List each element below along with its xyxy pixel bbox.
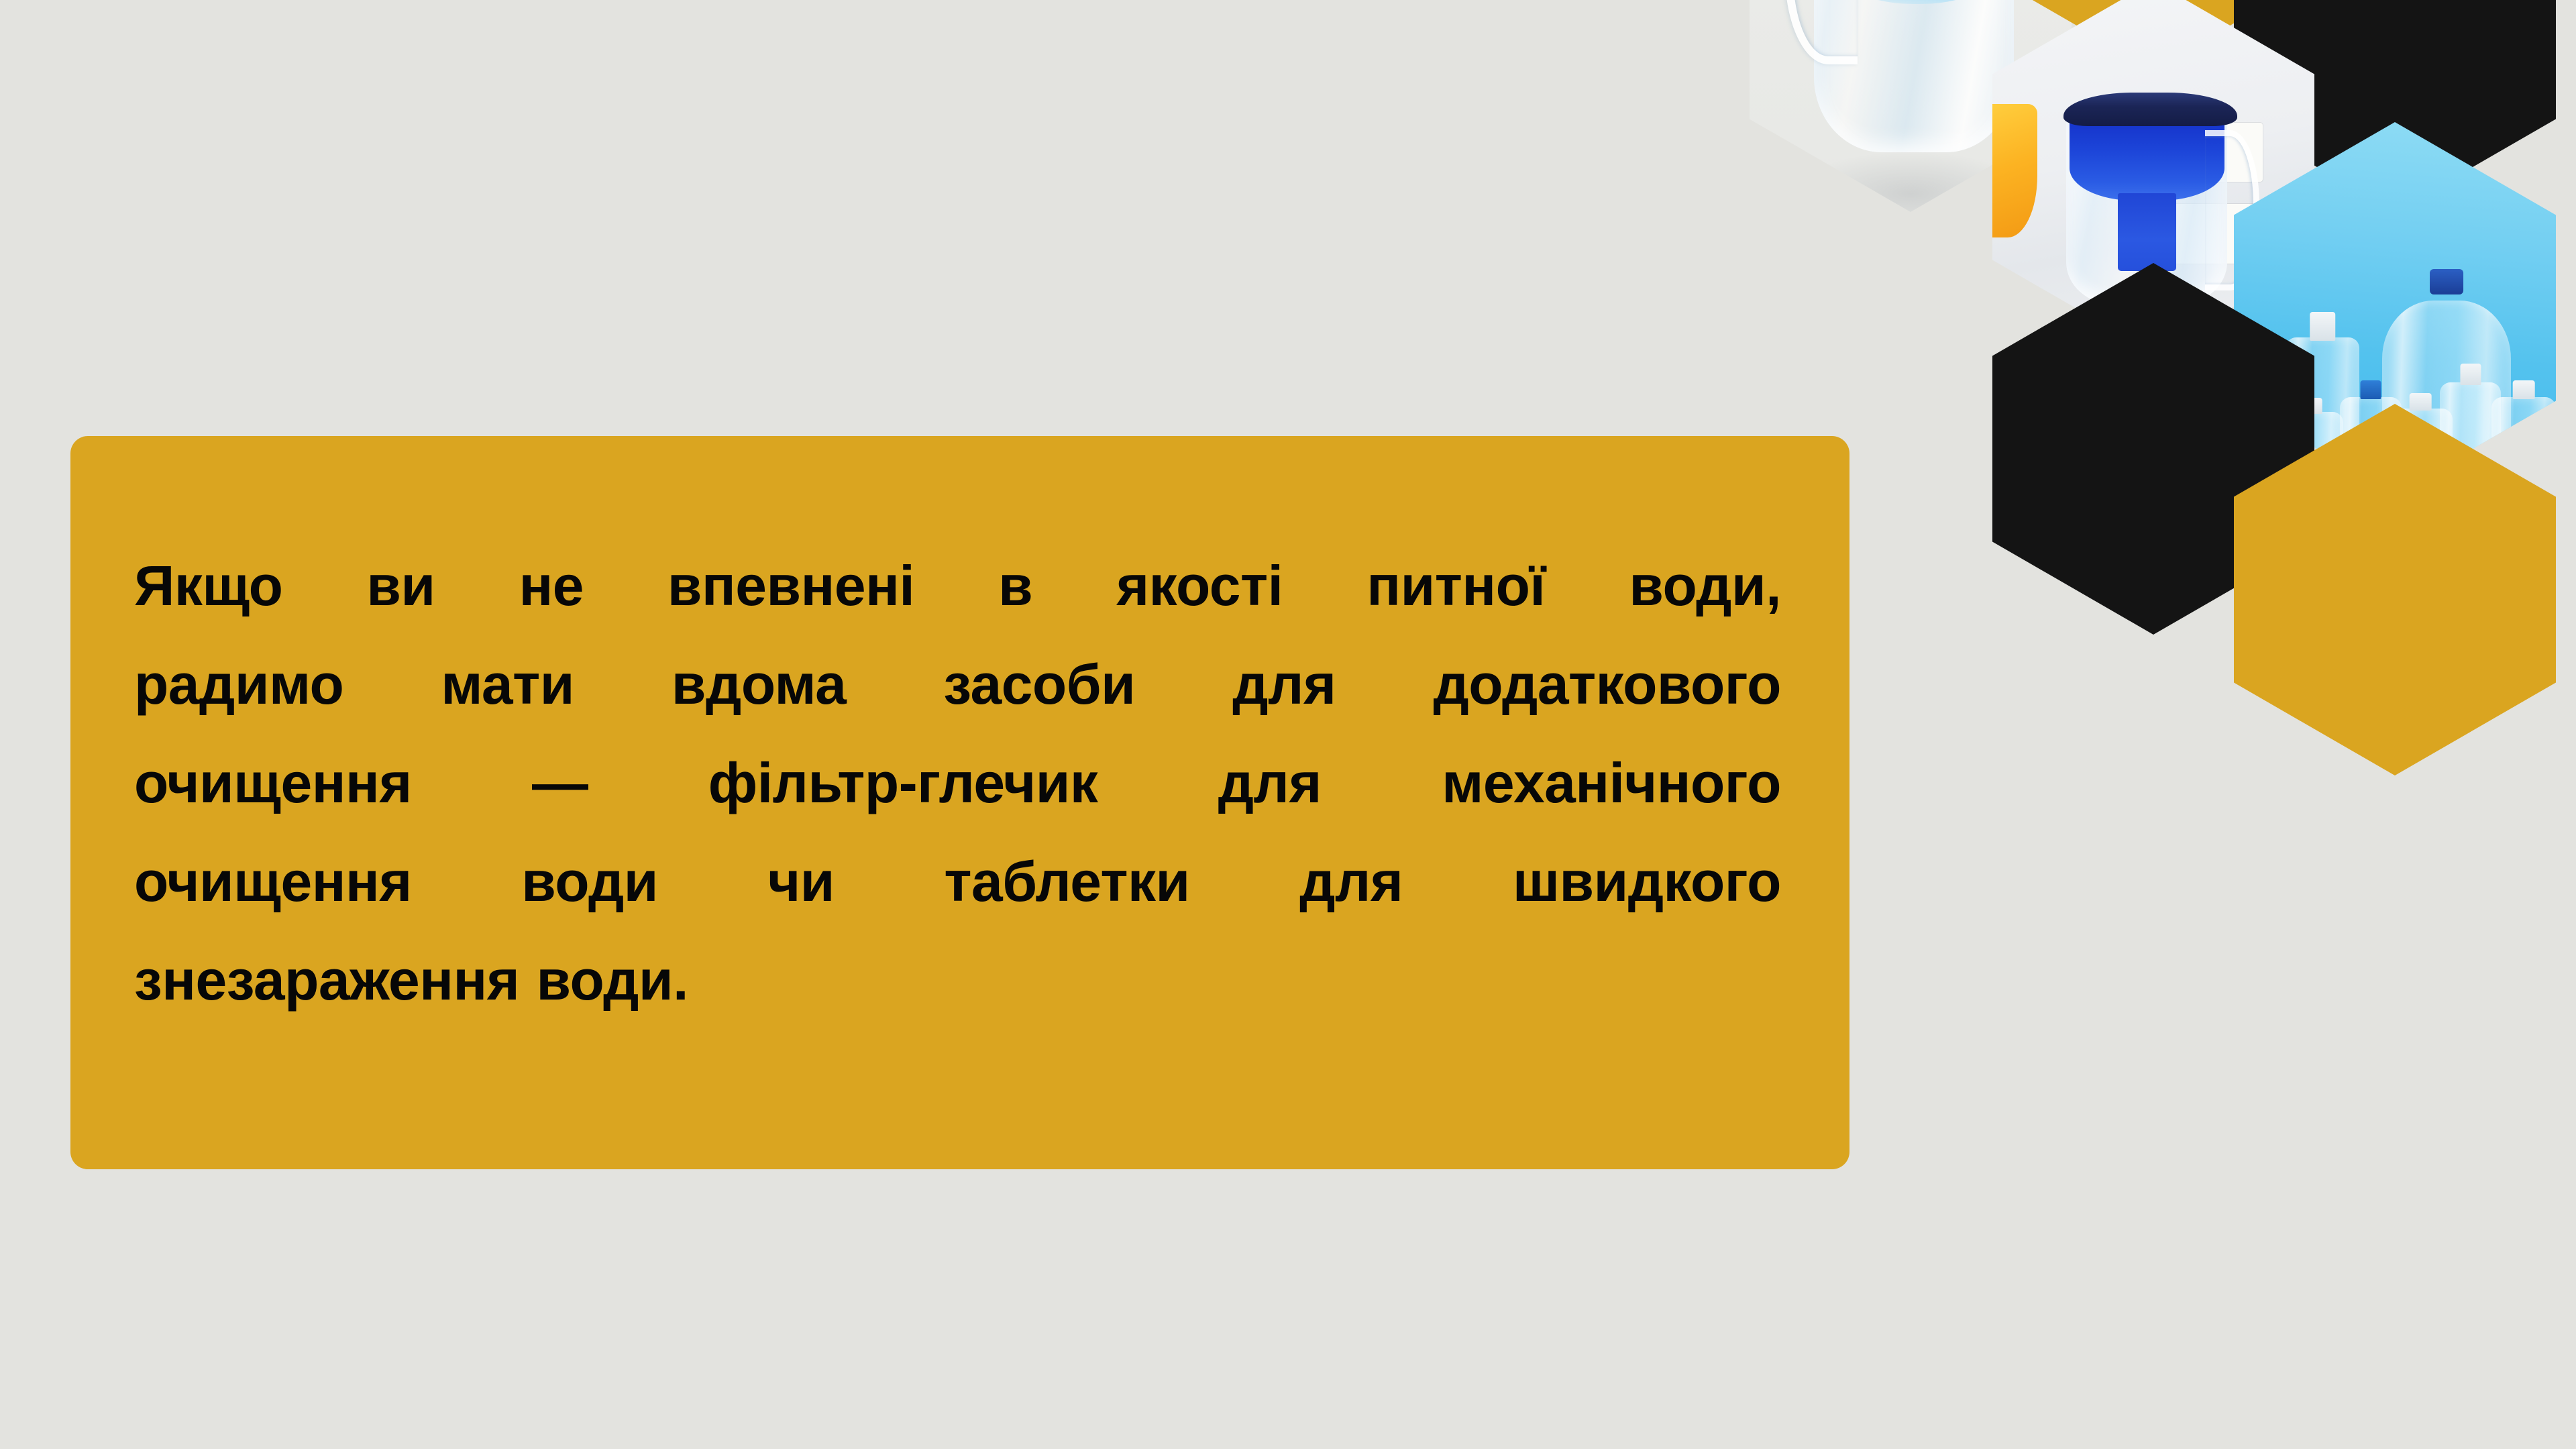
word: для: [1299, 833, 1403, 931]
word: мати: [441, 635, 574, 734]
word: очищення: [134, 833, 412, 931]
word: фільтр-глечик: [708, 734, 1098, 833]
slide-canvas: Якщо ви не впевнені в якості питної води…: [0, 0, 2576, 1449]
word: вдома: [672, 635, 846, 734]
text-line-4: очищення води чи таблетки для швидкого: [134, 833, 1781, 931]
word: в: [998, 537, 1032, 635]
word: —: [532, 734, 588, 833]
word: очищення: [134, 734, 412, 833]
word: засоби: [943, 635, 1135, 734]
word: радимо: [134, 635, 343, 734]
word: впевнені: [667, 537, 914, 635]
word: механічного: [1442, 734, 1781, 833]
word: швидкого: [1513, 833, 1781, 931]
text-line-3: очищення — фільтр-глечик для механічного: [134, 734, 1781, 833]
body-text-card: Якщо ви не впевнені в якості питної води…: [70, 436, 1849, 1169]
word: знезараження: [134, 931, 519, 1030]
word: води.: [536, 931, 688, 1030]
word: чи: [767, 833, 834, 931]
text-line-1: Якщо ви не впевнені в якості питної води…: [134, 537, 1781, 635]
word: якості: [1116, 537, 1283, 635]
word: води: [521, 833, 658, 931]
text-line-5: знезараження води.: [134, 931, 1781, 1030]
word: ви: [366, 537, 435, 635]
body-paragraph: Якщо ви не впевнені в якості питної води…: [134, 537, 1781, 1030]
text-line-2: радимо мати вдома засоби для додаткового: [134, 635, 1781, 734]
word: додаткового: [1433, 635, 1780, 734]
word: для: [1218, 734, 1322, 833]
word: не: [519, 537, 584, 635]
word: води,: [1629, 537, 1781, 635]
word: питної: [1366, 537, 1545, 635]
word: таблетки: [944, 833, 1189, 931]
word: Якщо: [134, 537, 283, 635]
word: для: [1232, 635, 1336, 734]
